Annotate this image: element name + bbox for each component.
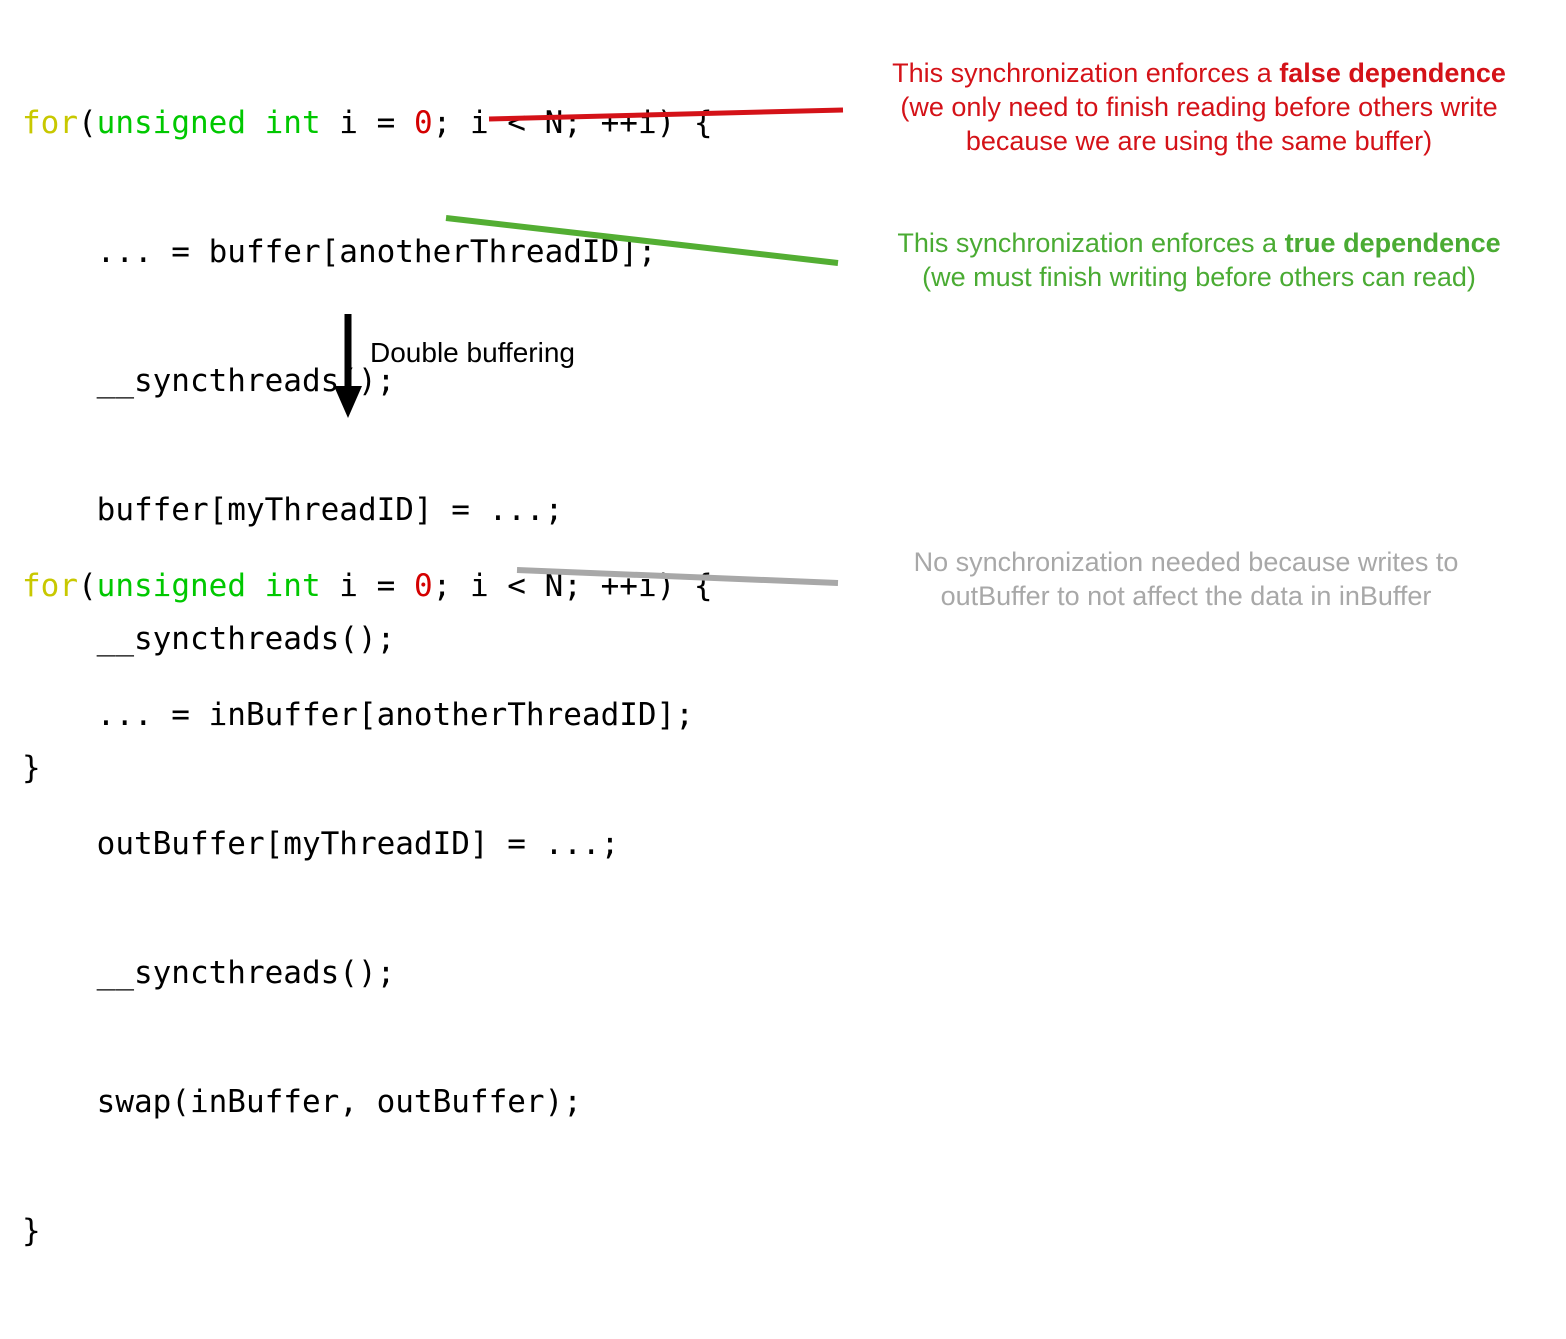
annotation-no-sync-needed: No synchronization needed because writes… [846, 545, 1526, 613]
annotation-line: No synchronization needed because writes… [846, 545, 1526, 579]
code-line: for(unsigned int i = 0; i < N; ++i) { [22, 565, 713, 608]
code-token-plain: ; i < N; ++i) { [433, 105, 713, 141]
annotation-text: This synchronization enforces a [897, 228, 1284, 258]
code-line: } [22, 1210, 713, 1253]
annotation-line: (we only need to finish reading before o… [838, 90, 1560, 124]
code-line-sync-read: __syncthreads(); [22, 360, 713, 403]
annotation-false-dependence: This synchronization enforces a false de… [838, 56, 1560, 158]
annotation-line: because we are using the same buffer) [838, 124, 1560, 158]
code-token-type: unsigned int [97, 105, 321, 141]
annotation-line: outBuffer to not affect the data in inBu… [846, 579, 1526, 613]
code-line: for(unsigned int i = 0; i < N; ++i) { [22, 102, 713, 145]
code-line: ... = buffer[anotherThreadID]; [22, 231, 713, 274]
code-token-punct: ( [78, 105, 97, 141]
code-token-keyword: for [22, 568, 78, 604]
code-token-plain: i = [321, 568, 414, 604]
annotation-line: (we must finish writing before others ca… [838, 260, 1560, 294]
code-token-number: 0 [414, 105, 433, 141]
code-token-type: unsigned int [97, 568, 321, 604]
annotation-text: This synchronization enforces a [892, 58, 1279, 88]
code-line: swap(inBuffer, outBuffer); [22, 1081, 713, 1124]
slide-canvas: for(unsigned int i = 0; i < N; ++i) { ..… [0, 0, 1566, 746]
double-buffering-label: Double buffering [370, 337, 575, 369]
code-line: ... = inBuffer[anotherThreadID]; [22, 694, 713, 737]
annotation-line: This synchronization enforces a true dep… [838, 226, 1560, 260]
code-token-plain: i = [321, 105, 414, 141]
annotation-emphasis: false dependence [1279, 58, 1506, 88]
annotation-emphasis: true dependence [1285, 228, 1501, 258]
code-line-out-write: outBuffer[myThreadID] = ...; [22, 823, 713, 866]
code-line: __syncthreads(); [22, 952, 713, 995]
code-token-keyword: for [22, 105, 78, 141]
code-token-plain: ; i < N; ++i) { [433, 568, 713, 604]
code-token-punct: ( [78, 568, 97, 604]
code-block-double-buffered: for(unsigned int i = 0; i < N; ++i) { ..… [22, 479, 713, 1339]
annotation-true-dependence: This synchronization enforces a true dep… [838, 226, 1560, 294]
code-token-number: 0 [414, 568, 433, 604]
annotation-line: This synchronization enforces a false de… [838, 56, 1560, 90]
